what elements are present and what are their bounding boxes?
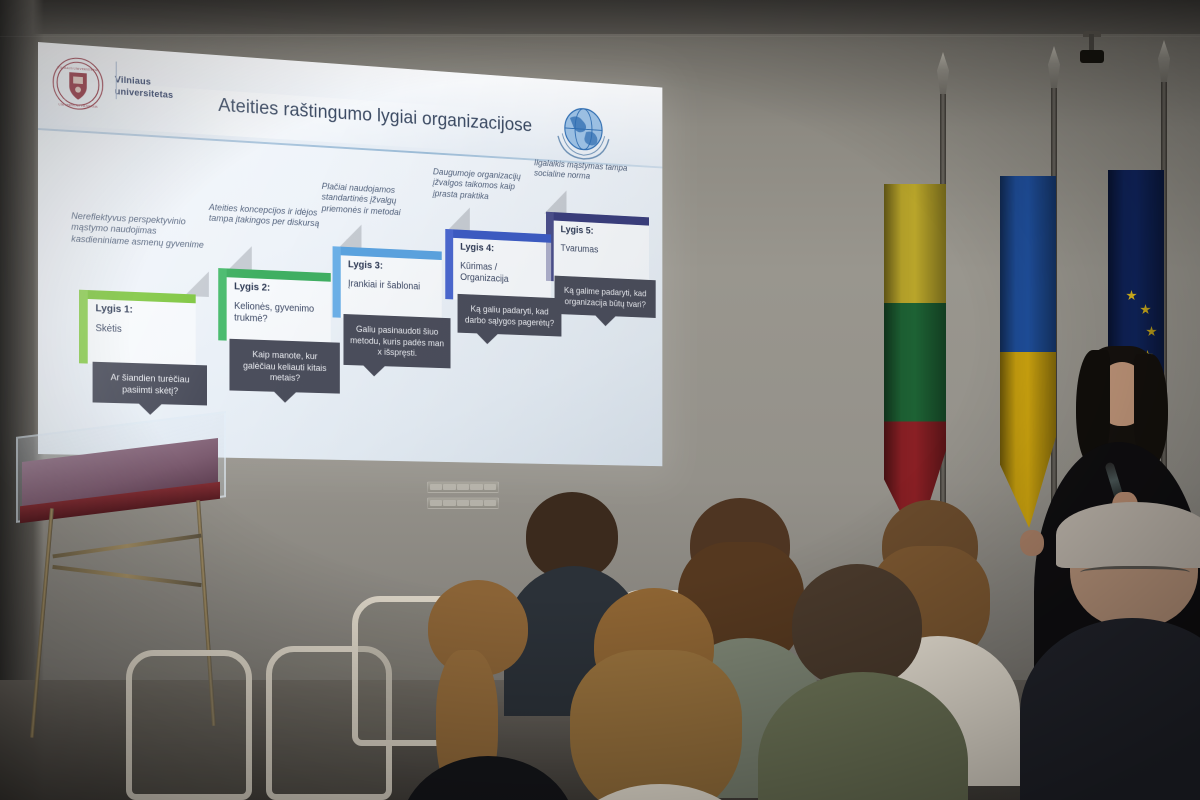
logo-divider (116, 62, 117, 100)
university-name: Vilniaus universitetas (115, 74, 173, 102)
level-1-bubble: Ar šiandien turėčiau pasiimti skėtį? (93, 362, 207, 406)
chair-back-row-left (126, 650, 252, 800)
level-2-label: Lygis 2: (234, 281, 270, 293)
level-1-text: Skėtis (95, 323, 190, 339)
lithuania-flag (884, 184, 946, 544)
level-1-arrow-icon (184, 270, 208, 297)
level-3-label: Lygis 3: (348, 259, 383, 271)
level-5-label: Lygis 5: (561, 225, 594, 237)
level-1-label: Lygis 1: (95, 303, 132, 315)
level-2-caption: Ateities koncepcijos ir idėjos tampa įta… (209, 201, 320, 229)
presenter-left-hand (1020, 530, 1044, 556)
room-ceiling (0, 0, 1200, 34)
vilnius-university-logo: VILNIAUS UNIVERSITETAS UNIVERSITAS VILNE… (52, 55, 174, 117)
level-5-text: Tvarumas (561, 243, 645, 259)
university-seal-icon: VILNIAUS UNIVERSITETAS UNIVERSITAS VILNE… (52, 55, 104, 112)
wall-light-switch-upper[interactable] (427, 481, 499, 493)
level-4-card: Lygis 4: Kūrimas / Organizacija (445, 229, 551, 304)
level-3-bubble: Galiu pasinaudoti šiuo metodu, kuris pad… (343, 314, 450, 368)
level-3-card: Lygis 3: Įrankiai ir šablonai (333, 246, 442, 321)
level-3-caption: Plačiai naudojamos standartinės įžvalgų … (322, 180, 430, 219)
level-5-bubble: Ką galime padaryti, kad organizacija būt… (555, 276, 656, 319)
level-4-bubble: Ką galiu padaryti, kad darbo sąlygos pag… (458, 294, 562, 337)
level-2-bubble: Kaip manote, kur galėčiau keliauti kitai… (229, 339, 339, 394)
svg-text:1579: 1579 (75, 72, 82, 76)
level-1-caption: Nereflektyvus perspektyvinio mąstymo nau… (71, 210, 207, 250)
level-2-arrow-icon (228, 245, 252, 271)
level-3-text: Įrankiai ir šablonai (348, 279, 437, 295)
photo-scene: VILNIAUS UNIVERSITETAS UNIVERSITAS VILNE… (0, 0, 1200, 800)
presentation-slide: VILNIAUS UNIVERSITETAS UNIVERSITAS VILNE… (38, 42, 662, 466)
level-5-card: Lygis 5: Tvarumas (546, 212, 649, 286)
eyeglasses-icon (1080, 566, 1190, 582)
level-4-caption: Daugumoje organizacijų įžvalgos taikomos… (433, 166, 538, 204)
level-3-arrow-icon (338, 223, 362, 249)
ukraine-flag (1000, 176, 1056, 528)
wall-light-switch-lower[interactable] (427, 497, 499, 509)
level-2-card: Lygis 2: Kelionės, gyvenimo trukmė? (218, 268, 331, 344)
level-4-label: Lygis 4: (460, 242, 494, 254)
projection-screen: VILNIAUS UNIVERSITETAS UNIVERSITAS VILNE… (38, 42, 662, 466)
level-4-text: Kūrimas / Organizacija (460, 261, 547, 288)
svg-text:UNIVERSITAS VILNENSIS: UNIVERSITAS VILNENSIS (58, 102, 97, 109)
level-1-card: Lygis 1: Skėtis (79, 290, 196, 367)
level-2-text: Kelionės, gyvenimo trukmė? (234, 301, 326, 329)
